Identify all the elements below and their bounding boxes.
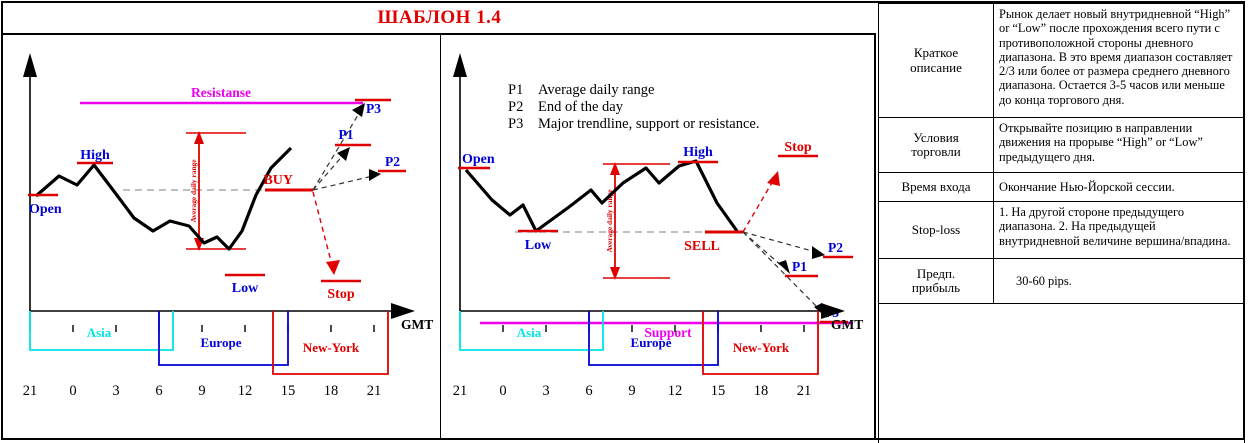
legend-item-p3: P3 Major trendline, support or resistanc…	[508, 116, 838, 133]
open-label: Open	[462, 152, 495, 167]
table-row-empty	[879, 304, 1245, 443]
label-line: торговли	[884, 145, 988, 159]
row-value-description: Рынок делает новый внутридневной “High” …	[994, 4, 1245, 118]
session-newyork-label: New-York	[303, 340, 360, 355]
session-asia: Asia	[30, 311, 173, 350]
legend-description: End of the day	[538, 99, 838, 116]
y-axis	[23, 53, 37, 311]
time-tick-label: 21	[23, 383, 38, 399]
legend-item-p1: P1 Average daily range	[508, 82, 838, 99]
pattern-info-table: Краткое описание Рынок делает новый внут…	[878, 3, 1245, 440]
time-tick-label: 18	[324, 383, 339, 399]
target-arrow-p1	[313, 147, 350, 190]
label-line: Время входа	[884, 180, 988, 194]
session-asia-label: Asia	[87, 325, 112, 340]
session-asia-label: Asia	[517, 325, 542, 340]
time-tick-label: 6	[585, 383, 592, 399]
empty-cell	[879, 304, 1245, 443]
screenshot-root: ШАБЛОН 1.4 Resistanse	[0, 0, 1248, 443]
row-value-stop-loss: 1. На другой стороне предыдущего диапазо…	[994, 202, 1245, 259]
time-tick-label: 9	[198, 383, 205, 399]
p2-label: P2	[385, 154, 400, 169]
gmt-label: GMT	[401, 317, 433, 332]
row-value-profit: 30-60 pips.	[994, 259, 1245, 304]
target-arrow-p2	[743, 232, 825, 259]
time-tick-labels: 21 0 3 6 9 12 15 18 21	[23, 383, 382, 399]
label-line: Условия	[884, 131, 988, 145]
buy-label: BUY	[263, 173, 293, 188]
p1-label: P1	[792, 259, 807, 274]
label-line: Предп.	[884, 267, 988, 281]
time-tick-label: 18	[754, 383, 769, 399]
stop-arrow	[313, 192, 340, 275]
legend-key: P2	[508, 99, 538, 116]
p1-label: P1	[339, 127, 354, 142]
low-label: Low	[525, 238, 552, 253]
row-value-conditions: Открывайте позицию в направлении движени…	[994, 118, 1245, 173]
time-tick-label: 9	[628, 383, 635, 399]
resistance-label: Resistanse	[191, 85, 251, 100]
time-tick-labels: 21 0 3 6 9 12 15 18 21	[453, 383, 812, 399]
high-label: High	[683, 145, 713, 160]
label-line: Stop-loss	[884, 223, 988, 237]
legend-description: Average daily range	[538, 82, 838, 99]
legend-key: P1	[508, 82, 538, 99]
label-line: Краткое	[884, 46, 988, 60]
session-europe-label: Europe	[201, 335, 242, 350]
stop-label: Stop	[327, 287, 354, 302]
session-europe: Europe	[589, 311, 718, 365]
session-newyork-label: New-York	[733, 340, 790, 355]
row-label-conditions: Условия торговли	[879, 118, 994, 173]
time-tick-label: 3	[112, 383, 119, 399]
row-label-entry-time: Время входа	[879, 173, 994, 202]
title-bar: ШАБЛОН 1.4	[3, 3, 876, 35]
stop-label: Stop	[784, 140, 811, 155]
p2-label: P2	[828, 240, 843, 255]
table-row: Предп. прибыль 30-60 pips.	[879, 259, 1245, 304]
table-row: Условия торговли Открывайте позицию в на…	[879, 118, 1245, 173]
low-label: Low	[232, 281, 259, 296]
legend-description: Major trendline, support or resistance.	[538, 116, 838, 133]
table-row: Stop-loss 1. На другой стороне предыдуще…	[879, 202, 1245, 259]
row-label-stop-loss: Stop-loss	[879, 202, 994, 259]
stop-arrow	[743, 171, 780, 232]
legend-key: P3	[508, 116, 538, 133]
sell-label: SELL	[684, 239, 720, 254]
row-label-description: Краткое описание	[879, 4, 994, 118]
row-label-profit: Предп. прибыль	[879, 259, 994, 304]
price-path	[36, 148, 291, 249]
legend: P1 Average daily range P2 End of the day…	[508, 82, 838, 133]
average-daily-range-label: Average daily range	[189, 159, 198, 223]
p3-label: P3	[366, 101, 381, 116]
time-tick-label: 21	[453, 383, 468, 399]
gmt-label: GMT	[831, 317, 863, 332]
time-tick-label: 12	[668, 383, 683, 399]
session-newyork: New-York	[703, 311, 818, 374]
average-daily-range-bracket: Average daily range	[603, 162, 670, 280]
legend-item-p2: P2 End of the day	[508, 99, 838, 116]
time-tick-label: 15	[281, 383, 296, 399]
session-europe: Europe	[159, 311, 288, 365]
time-tick-label: 6	[155, 383, 162, 399]
time-tick-label: 12	[238, 383, 253, 399]
y-axis	[453, 53, 467, 311]
charts-zone: Resistanse Average daily range Open	[3, 35, 876, 438]
target-arrow-p3	[313, 103, 365, 190]
time-tick-label: 0	[69, 383, 76, 399]
price-path	[466, 161, 737, 231]
time-tick-label: 3	[542, 383, 549, 399]
page-title: ШАБЛОН 1.4	[378, 7, 502, 29]
high-label: High	[80, 148, 110, 163]
time-tick-label: 0	[499, 383, 506, 399]
buy-setup-chart: Resistanse Average daily range Open	[3, 35, 441, 438]
table-row: Время входа Окончание Нью-Йорской сессии…	[879, 173, 1245, 202]
session-asia: Asia	[460, 311, 603, 350]
time-tick-label: 15	[711, 383, 726, 399]
time-tick-label: 21	[367, 383, 382, 399]
open-label: Open	[29, 202, 62, 217]
table-row: Краткое описание Рынок делает новый внут…	[879, 4, 1245, 118]
session-europe-label: Europe	[631, 335, 672, 350]
session-newyork: New-York	[273, 311, 388, 374]
label-line: описание	[884, 61, 988, 75]
time-tick-label: 21	[797, 383, 812, 399]
row-value-entry-time: Окончание Нью-Йорской сессии.	[994, 173, 1245, 202]
label-line: прибыль	[884, 281, 988, 295]
